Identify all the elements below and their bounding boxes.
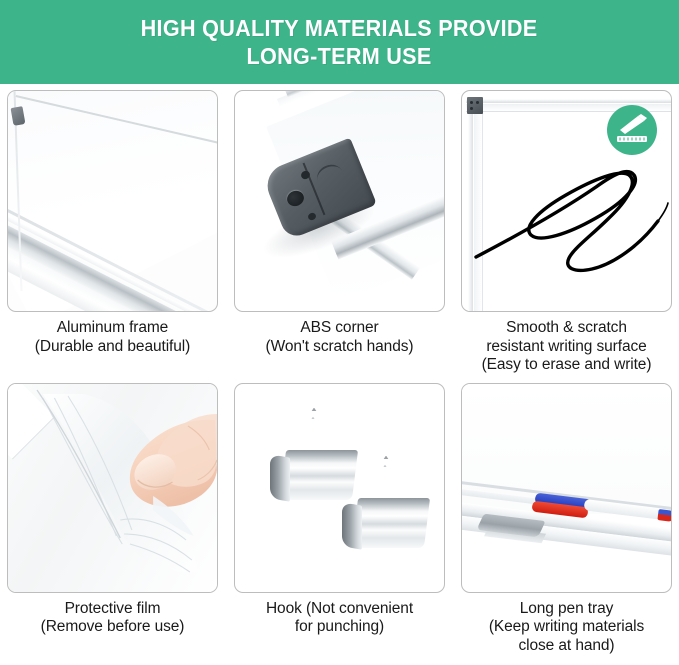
feature-image-hook (234, 383, 445, 593)
feature-subtitle: for punching) (266, 618, 413, 637)
feature-subtitle: (Won't scratch hands) (266, 338, 414, 357)
feature-image-aluminum-frame (7, 90, 218, 312)
feature-caption-pen-tray: Long pen tray (Keep writing materials cl… (489, 593, 644, 656)
corner-hole (476, 101, 479, 104)
feature-subtitle: (Remove before use) (41, 618, 185, 637)
feature-title: Protective film (41, 600, 185, 619)
corner-hole (470, 107, 473, 110)
feature-title: Aluminum frame (35, 319, 190, 338)
feature-image-writing-surface (461, 90, 672, 312)
marker-white-cap (657, 509, 672, 522)
feature-subtitle: (Easy to erase and write) (482, 356, 652, 375)
feature-subtitle-line2: close at hand) (489, 637, 644, 656)
hook-metal-body (280, 450, 358, 500)
feature-caption-aluminum-frame: Aluminum frame (Durable and beautiful) (35, 312, 190, 356)
grid-row-spacer (7, 375, 672, 383)
feature-cell-aluminum-frame: Aluminum frame (Durable and beautiful) (7, 90, 218, 375)
feature-cell-protective-film: Protective film (Remove before use) (7, 383, 218, 656)
signature-stroke (468, 117, 672, 292)
feature-cell-writing-surface: Smooth & scratch resistant writing surfa… (461, 90, 672, 375)
handwritten-signature (468, 117, 672, 297)
hook-curved-lip (270, 454, 290, 502)
feature-title: Smooth & scratch (482, 319, 652, 338)
header-title: HIGH QUALITY MATERIALS PROVIDE LONG-TERM… (141, 14, 538, 70)
feature-image-pen-tray (461, 383, 672, 593)
feature-cell-hook: Hook (Not convenient for punching) (234, 383, 445, 656)
feature-title: Hook (Not convenient (266, 600, 413, 619)
film-and-hand-illustration (8, 384, 217, 592)
feature-title: ABS corner (266, 319, 414, 338)
header-title-line2: LONG-TERM USE (141, 42, 538, 70)
header-banner: HIGH QUALITY MATERIALS PROVIDE LONG-TERM… (0, 0, 679, 84)
feature-cell-abs-corner: ABS corner (Won't scratch hands) (234, 90, 445, 375)
feature-caption-abs-corner: ABS corner (Won't scratch hands) (266, 312, 414, 356)
feature-image-abs-corner (234, 90, 445, 312)
feature-grid: Aluminum frame (Durable and beautiful) A… (0, 84, 679, 655)
whiteboard-top-rail (466, 99, 671, 103)
feature-title-line2: resistant writing surface (482, 338, 652, 357)
feature-caption-writing-surface: Smooth & scratch resistant writing surfa… (482, 312, 652, 375)
whiteboard-corner-bracket-icon (467, 97, 483, 114)
feature-cell-pen-tray: Long pen tray (Keep writing materials cl… (461, 383, 672, 656)
hook-metal-body (352, 498, 430, 548)
hook-curved-lip (342, 502, 362, 550)
feature-subtitle: (Keep writing materials (489, 618, 644, 637)
feature-image-protective-film (7, 383, 218, 593)
header-title-line1: HIGH QUALITY MATERIALS PROVIDE (141, 14, 538, 42)
feature-caption-hook: Hook (Not convenient for punching) (266, 593, 413, 637)
feature-subtitle: (Durable and beautiful) (35, 338, 190, 357)
feature-title: Long pen tray (489, 600, 644, 619)
feature-caption-protective-film: Protective film (Remove before use) (41, 593, 185, 637)
corner-hole (470, 101, 473, 104)
